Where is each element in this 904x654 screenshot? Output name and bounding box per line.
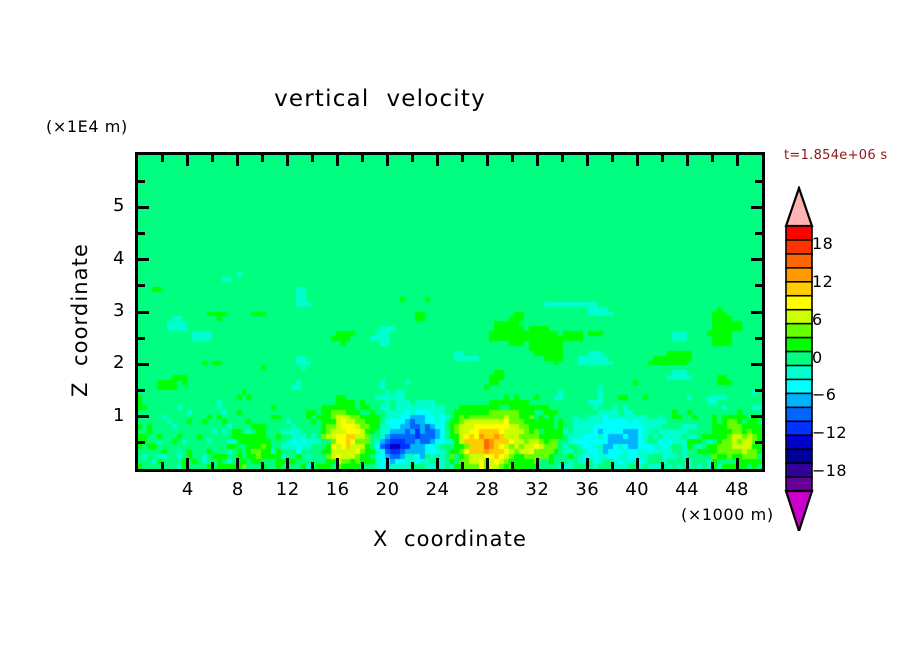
x-tick-minor-top bbox=[711, 155, 714, 162]
y-tick-minor-left bbox=[138, 180, 145, 183]
x-axis-title: X coordinate bbox=[135, 527, 765, 551]
x-tick-minor-bottom bbox=[511, 462, 514, 469]
x-tick-label: 28 bbox=[464, 479, 510, 500]
y-tick-label: 4 bbox=[95, 248, 125, 269]
x-tick-minor-bottom bbox=[361, 462, 364, 469]
x-tick-major-bottom bbox=[686, 458, 689, 469]
y-tick-major-left bbox=[138, 258, 149, 261]
colorbar-band bbox=[786, 282, 812, 297]
y-tick-label: 2 bbox=[95, 352, 125, 373]
y-axis-title: Z coordinate bbox=[68, 210, 92, 430]
x-tick-label: 24 bbox=[415, 479, 461, 500]
y-tick-major-left bbox=[138, 311, 149, 314]
x-tick-major-bottom bbox=[186, 458, 189, 469]
x-tick-label: 36 bbox=[564, 479, 610, 500]
x-tick-minor-top bbox=[311, 155, 314, 162]
y-tick-minor-right bbox=[755, 284, 762, 287]
x-tick-major-top bbox=[486, 155, 489, 166]
x-tick-minor-top bbox=[161, 155, 164, 162]
x-tick-major-top bbox=[336, 155, 339, 166]
y-tick-major-right bbox=[751, 363, 762, 366]
x-tick-major-bottom bbox=[286, 458, 289, 469]
y-tick-label: 3 bbox=[95, 300, 125, 321]
x-tick-label: 20 bbox=[365, 479, 411, 500]
colorbar-band bbox=[786, 226, 812, 241]
x-tick-major-bottom bbox=[636, 458, 639, 469]
x-tick-minor-top bbox=[361, 155, 364, 162]
x-tick-major-top bbox=[736, 155, 739, 166]
y-tick-major-left bbox=[138, 206, 149, 209]
chart-title: vertical velocity bbox=[0, 86, 760, 112]
contour-field bbox=[138, 155, 762, 469]
colorbar-tick-label: −6 bbox=[812, 385, 836, 404]
x-tick-major-top bbox=[286, 155, 289, 166]
y-tick-minor-left bbox=[138, 337, 145, 340]
x-tick-label: 32 bbox=[514, 479, 560, 500]
x-tick-minor-bottom bbox=[711, 462, 714, 469]
colorbar-band bbox=[786, 407, 812, 422]
x-tick-major-top bbox=[236, 155, 239, 166]
y-tick-minor-left bbox=[138, 441, 145, 444]
y-tick-minor-right bbox=[755, 337, 762, 340]
x-axis-unit-label: (×1000 m) bbox=[681, 505, 774, 524]
colorbar-tick-label: −18 bbox=[812, 461, 847, 480]
x-tick-minor-bottom bbox=[211, 462, 214, 469]
x-tick-major-bottom bbox=[336, 458, 339, 469]
x-tick-minor-bottom bbox=[461, 462, 464, 469]
colorbar-band bbox=[786, 324, 812, 339]
colorbar-band bbox=[786, 435, 812, 450]
x-tick-minor-bottom bbox=[411, 462, 414, 469]
x-tick-minor-bottom bbox=[311, 462, 314, 469]
x-tick-label: 44 bbox=[664, 479, 710, 500]
y-tick-minor-left bbox=[138, 232, 145, 235]
x-tick-major-top bbox=[686, 155, 689, 166]
x-tick-major-bottom bbox=[236, 458, 239, 469]
x-tick-major-bottom bbox=[486, 458, 489, 469]
colorbar-tick-label: 0 bbox=[812, 348, 823, 367]
x-tick-major-bottom bbox=[736, 458, 739, 469]
colorbar-band bbox=[786, 421, 812, 436]
x-tick-minor-top bbox=[461, 155, 464, 162]
x-tick-major-top bbox=[386, 155, 389, 166]
x-tick-label: 8 bbox=[215, 479, 261, 500]
x-tick-major-bottom bbox=[386, 458, 389, 469]
colorbar-band bbox=[786, 352, 812, 367]
colorbar-band bbox=[786, 477, 812, 492]
x-tick-minor-bottom bbox=[561, 462, 564, 469]
y-tick-minor-right bbox=[755, 441, 762, 444]
x-tick-label: 40 bbox=[614, 479, 660, 500]
x-tick-major-top bbox=[636, 155, 639, 166]
colorbar-band bbox=[786, 338, 812, 353]
y-tick-major-right bbox=[751, 311, 762, 314]
x-tick-minor-top bbox=[611, 155, 614, 162]
y-tick-minor-left bbox=[138, 389, 145, 392]
y-tick-major-right bbox=[751, 206, 762, 209]
colorbar-band bbox=[786, 296, 812, 311]
y-tick-label: 5 bbox=[95, 195, 125, 216]
x-tick-minor-bottom bbox=[161, 462, 164, 469]
x-tick-major-top bbox=[536, 155, 539, 166]
y-tick-minor-left bbox=[138, 284, 145, 287]
x-tick-minor-top bbox=[561, 155, 564, 162]
x-tick-minor-top bbox=[211, 155, 214, 162]
colorbar-tick-label: 12 bbox=[812, 272, 833, 291]
colorbar-over-arrow bbox=[786, 188, 812, 226]
x-tick-minor-top bbox=[261, 155, 264, 162]
x-tick-label: 48 bbox=[714, 479, 760, 500]
y-tick-minor-right bbox=[755, 389, 762, 392]
colorbar-tick-label: −12 bbox=[812, 423, 847, 442]
x-tick-minor-top bbox=[411, 155, 414, 162]
colorbar-band bbox=[786, 365, 812, 380]
colorbar-tick-label: 18 bbox=[812, 234, 833, 253]
x-tick-minor-bottom bbox=[661, 462, 664, 469]
y-axis-unit-label: (×1E4 m) bbox=[46, 117, 128, 136]
y-tick-major-right bbox=[751, 415, 762, 418]
plot-area bbox=[135, 152, 765, 472]
colorbar-tick-label: 6 bbox=[812, 310, 823, 329]
x-tick-major-top bbox=[586, 155, 589, 166]
colorbar-band bbox=[786, 449, 812, 464]
x-tick-minor-top bbox=[661, 155, 664, 162]
colorbar-band bbox=[786, 240, 812, 255]
colorbar-band bbox=[786, 254, 812, 269]
x-tick-label: 16 bbox=[315, 479, 361, 500]
y-tick-minor-right bbox=[755, 232, 762, 235]
x-tick-major-bottom bbox=[536, 458, 539, 469]
x-tick-major-bottom bbox=[436, 458, 439, 469]
x-tick-label: 12 bbox=[265, 479, 311, 500]
x-tick-minor-bottom bbox=[261, 462, 264, 469]
x-tick-major-top bbox=[186, 155, 189, 166]
x-tick-major-bottom bbox=[586, 458, 589, 469]
y-tick-major-left bbox=[138, 415, 149, 418]
timestamp-annotation: t=1.854e+06 s bbox=[784, 148, 887, 163]
colorbar-band bbox=[786, 268, 812, 283]
x-tick-minor-bottom bbox=[611, 462, 614, 469]
y-tick-major-right bbox=[751, 258, 762, 261]
y-tick-label: 1 bbox=[95, 405, 125, 426]
colorbar-under-arrow bbox=[786, 491, 812, 531]
y-tick-major-left bbox=[138, 363, 149, 366]
x-tick-label: 4 bbox=[165, 479, 211, 500]
colorbar-band bbox=[786, 310, 812, 325]
x-tick-minor-top bbox=[511, 155, 514, 162]
x-tick-major-top bbox=[436, 155, 439, 166]
colorbar-band bbox=[786, 393, 812, 408]
y-tick-minor-right bbox=[755, 180, 762, 183]
colorbar-band bbox=[786, 379, 812, 394]
colorbar-band bbox=[786, 463, 812, 478]
